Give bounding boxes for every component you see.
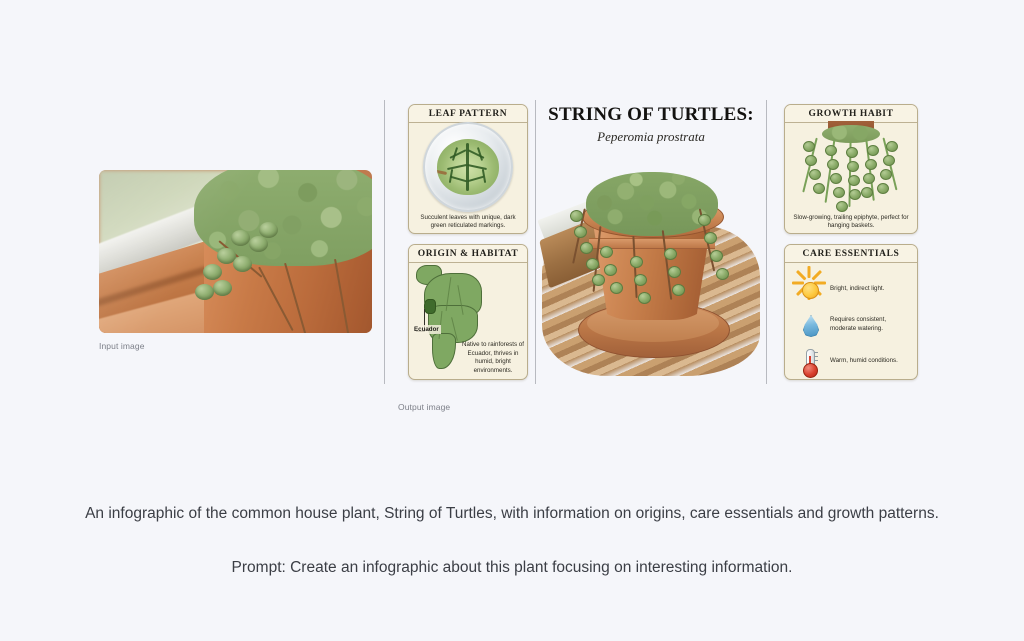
- growth-leaf-bead: [809, 169, 821, 180]
- growth-leaf-bead: [825, 145, 837, 156]
- panel-leaf-pattern-body: Succulent leaves with unique, dark green…: [409, 123, 527, 233]
- hero-leaf-bead: [716, 268, 729, 280]
- hero-leaf-bead: [672, 284, 685, 296]
- panel-origin-habitat-note: Native to rainforests of Ecuador, thrive…: [462, 341, 524, 375]
- panel-care-essentials: CARE ESSENTIALS Bright, indirect l: [784, 244, 918, 380]
- panel-leaf-pattern: LEAF PATTERN: [408, 104, 528, 234]
- hero-leaf-bead: [604, 264, 617, 276]
- growth-leaf-bead: [848, 175, 860, 186]
- panel-origin-habitat: ORIGIN & HABITAT Ecuador Native to r: [408, 244, 528, 380]
- growth-leaf-bead: [833, 187, 845, 198]
- water-drop-icon: [795, 310, 823, 340]
- hero-foliage-mound: [586, 172, 718, 236]
- growth-leaf-bead: [849, 189, 861, 200]
- growth-leaf-bead: [867, 145, 879, 156]
- growth-leaf-bead: [863, 173, 875, 184]
- photo-gloss-overlay: [99, 170, 372, 333]
- sun-core: [802, 282, 819, 299]
- hanging-basket-plant-icon: [785, 123, 917, 215]
- hero-leaf-bead: [664, 248, 677, 260]
- column-divider-left: [384, 100, 385, 384]
- panel-origin-habitat-body: Ecuador Native to rainforests of Ecuador…: [409, 263, 527, 379]
- panel-leaf-pattern-title: LEAF PATTERN: [409, 105, 527, 123]
- caption-prompt: Prompt: Create an infographic about this…: [0, 559, 1024, 577]
- infographic: LEAF PATTERN: [384, 96, 944, 388]
- leaf-vein: [447, 164, 467, 170]
- growth-leaf-bead: [805, 155, 817, 166]
- hero-leaf-bead: [610, 282, 623, 294]
- thermometer-bulb: [803, 363, 818, 378]
- care-item-light: Bright, indirect light.: [789, 271, 913, 307]
- caption-description: An infographic of the common house plant…: [62, 500, 962, 529]
- sun-icon: [795, 274, 823, 304]
- hero-leaf-bead: [710, 250, 723, 262]
- column-divider-right: [766, 100, 767, 384]
- hero-leaf-bead: [634, 274, 647, 286]
- panel-growth-habit-note: Slow-growing, trailing epiphyte, perfect…: [789, 214, 913, 230]
- hero-leaf-bead: [586, 258, 599, 270]
- input-image-block: Input image: [99, 170, 372, 351]
- potted-string-of-turtles-illustration: [538, 152, 764, 384]
- leaf-vein: [467, 164, 487, 170]
- hero-leaf-bead: [638, 292, 651, 304]
- leaf-vein: [467, 176, 484, 183]
- map-south-cone: [432, 333, 456, 369]
- leaf-illustration: [437, 139, 499, 195]
- growth-leaf-bead: [865, 159, 877, 170]
- growth-leaf-bead: [830, 173, 842, 184]
- growth-leaf-bead: [877, 183, 889, 194]
- leaf-stem: [437, 168, 447, 175]
- column-divider-middle: [535, 100, 536, 384]
- panel-care-essentials-title: CARE ESSENTIALS: [785, 245, 917, 263]
- panel-growth-habit: GROWTH HABIT: [784, 104, 918, 234]
- panel-care-essentials-body: Bright, indirect light. Requires consist…: [785, 263, 917, 379]
- growth-leaf-bead: [827, 159, 839, 170]
- hero-leaf-bead: [580, 242, 593, 254]
- magnifier-leaf-icon: [423, 122, 513, 212]
- growth-leaf-bead: [846, 147, 858, 158]
- care-item-temperature: Warm, humid conditions.: [789, 343, 913, 379]
- hero-leaf-bead: [574, 226, 587, 238]
- growth-leaf-bead: [847, 161, 859, 172]
- growth-leaf-bead: [836, 201, 848, 212]
- thermometer-icon: [795, 346, 823, 376]
- growth-leaf-bead: [883, 155, 895, 166]
- growth-leaf-bead: [880, 169, 892, 180]
- care-item-temperature-text: Warm, humid conditions.: [830, 357, 898, 366]
- panel-growth-habit-body: Slow-growing, trailing epiphyte, perfect…: [785, 123, 917, 233]
- caption-block: An infographic of the common house plant…: [0, 500, 1024, 577]
- care-item-water-text: Requires consistent, moderate watering.: [830, 316, 908, 333]
- input-image-label: Input image: [99, 341, 372, 351]
- care-item-light-text: Bright, indirect light.: [830, 285, 884, 294]
- growth-leaf-bead: [886, 141, 898, 152]
- water-drop-shape: [803, 315, 819, 337]
- hero-leaf-bead: [600, 246, 613, 258]
- hero-leaf-bead: [570, 210, 583, 222]
- output-image-block: LEAF PATTERN: [384, 96, 944, 412]
- input-photo: [99, 170, 372, 333]
- hero-leaf-bead: [592, 274, 605, 286]
- growth-leaf-bead: [803, 141, 815, 152]
- hero-leaf-bead: [668, 266, 681, 278]
- output-image-label: Output image: [398, 402, 944, 412]
- care-item-water: Requires consistent, moderate watering.: [789, 307, 913, 343]
- infographic-title: STRING OF TURTLES:: [538, 104, 764, 126]
- map-ecuador-highlight: [424, 299, 436, 314]
- hero-leaf-bead: [698, 214, 711, 226]
- leaf-vein: [482, 169, 486, 183]
- panel-leaf-pattern-note: Succulent leaves with unique, dark green…: [413, 214, 523, 230]
- growth-leaf-bead: [861, 187, 873, 198]
- panel-origin-habitat-title: ORIGIN & HABITAT: [409, 245, 527, 263]
- map-ecuador-label: Ecuador: [412, 325, 441, 334]
- growth-leaf-bead: [813, 183, 825, 194]
- leaf-vein: [450, 176, 467, 183]
- hero-leaf-bead: [704, 232, 717, 244]
- infographic-subtitle: Peperomia prostrata: [538, 129, 764, 145]
- infographic-center-column: STRING OF TURTLES: Peperomia prostrata: [538, 96, 764, 388]
- hero-leaf-bead: [630, 256, 643, 268]
